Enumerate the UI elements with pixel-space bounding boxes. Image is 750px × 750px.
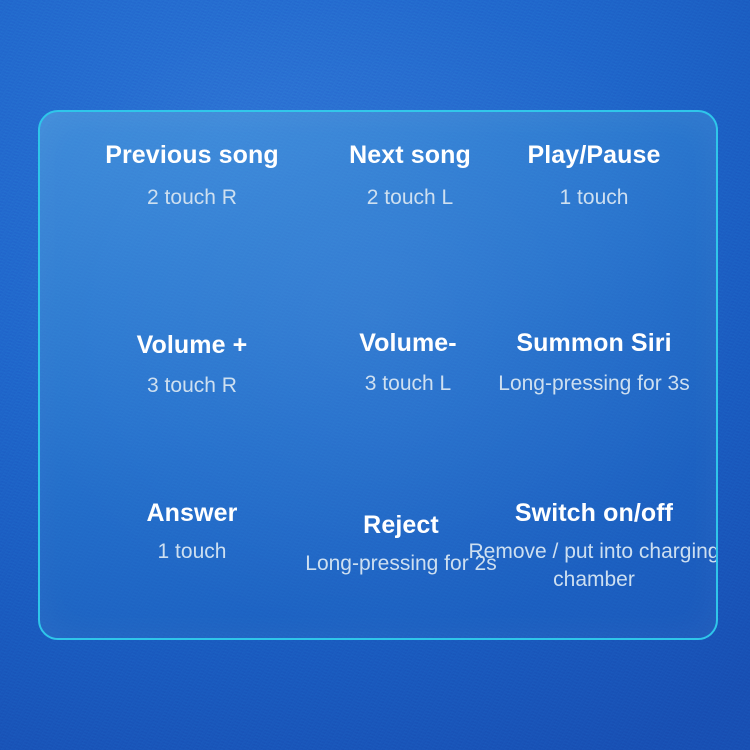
control-switch-on-off: Switch on/off Remove / put into charging… <box>444 498 718 594</box>
controls-grid: Previous song 2 touch R Next song 2 touc… <box>40 112 716 638</box>
control-action: Long-pressing for 3s <box>444 370 718 398</box>
touch-controls-card: Previous song 2 touch R Next song 2 touc… <box>38 110 718 640</box>
control-title: Summon Siri <box>444 328 718 358</box>
control-title: Switch on/off <box>444 498 718 528</box>
page-background: Previous song 2 touch R Next song 2 touc… <box>0 0 750 750</box>
control-play-pause: Play/Pause 1 touch <box>444 140 718 212</box>
control-title: Play/Pause <box>444 140 718 170</box>
control-action: Remove / put into charging chamber <box>444 538 718 594</box>
control-summon-siri: Summon Siri Long-pressing for 3s <box>444 328 718 398</box>
control-action: 1 touch <box>444 184 718 212</box>
